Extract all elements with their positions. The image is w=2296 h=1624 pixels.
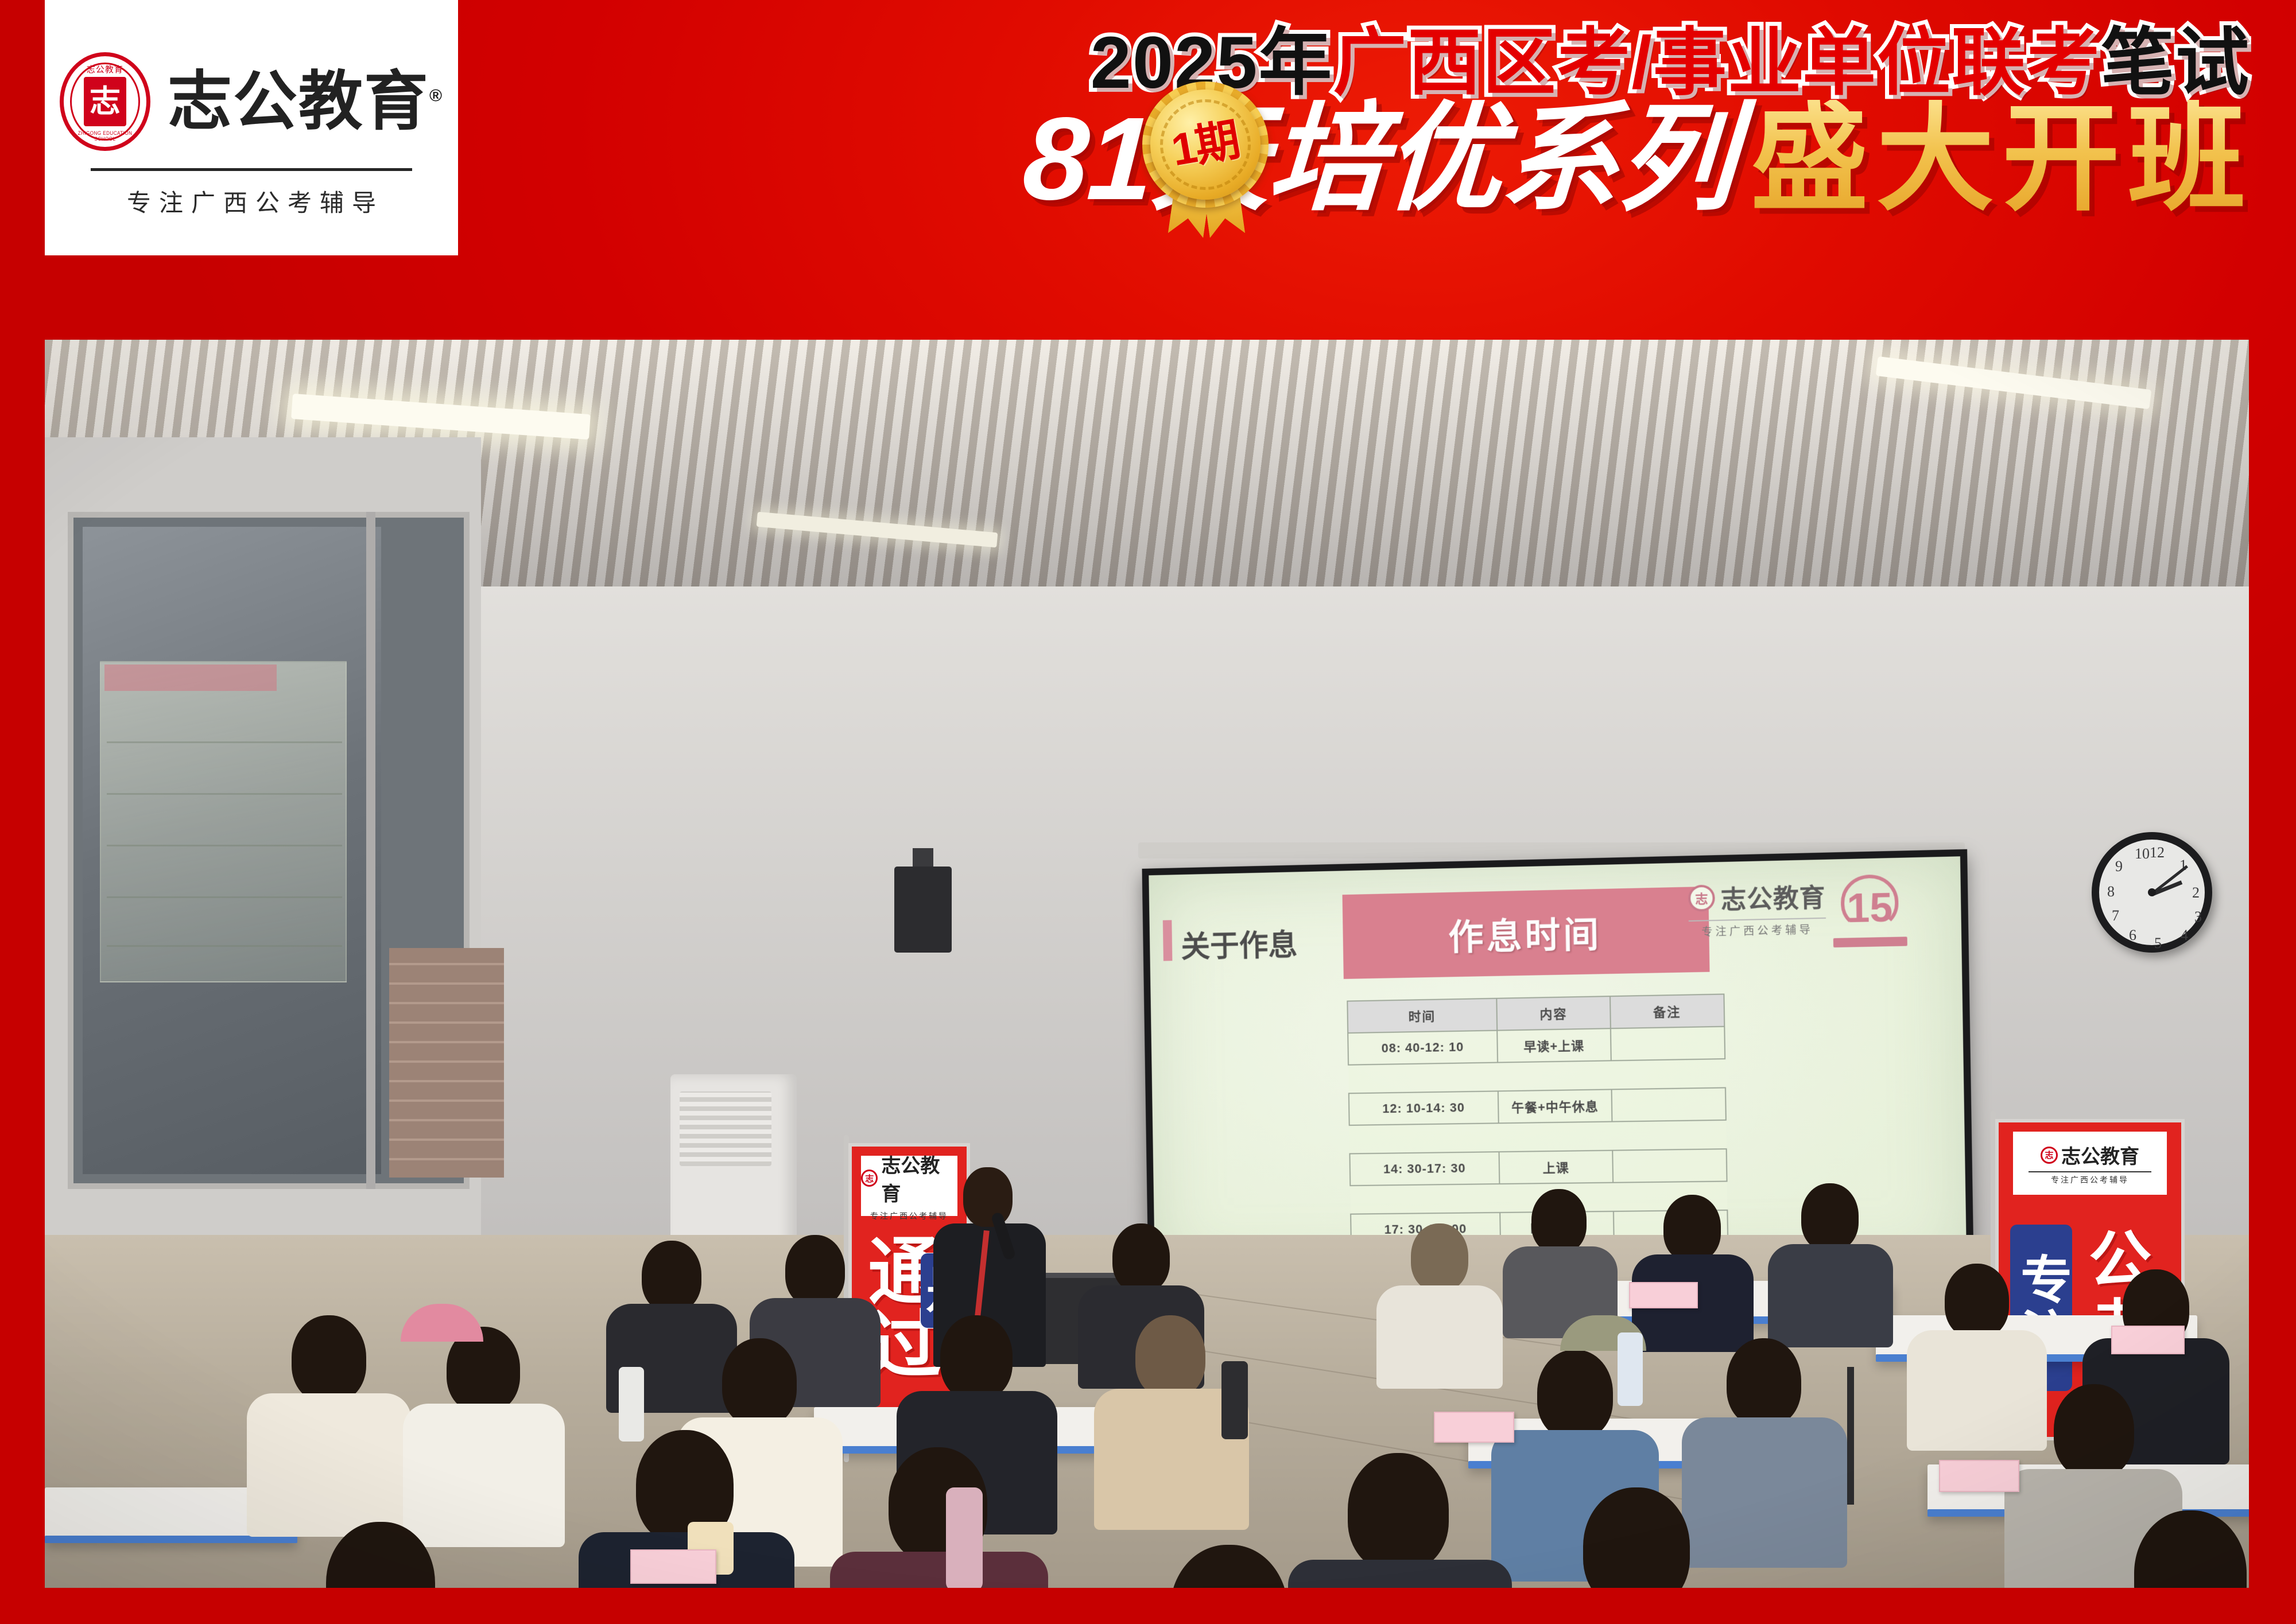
seal-top-text: 志公教育 xyxy=(64,63,146,75)
slide-title-bar: 作息时间 xyxy=(1343,887,1710,979)
slide-brand-logo-row: 志 志公教育 xyxy=(1688,877,1826,917)
window-reflection-title-bar xyxy=(104,665,277,691)
cell-remark xyxy=(1611,1087,1726,1121)
banner-left-tagline: 专注广西公考辅导 xyxy=(870,1210,948,1222)
water-bottle xyxy=(1221,1361,1248,1439)
column-header-time: 时间 xyxy=(1347,999,1497,1033)
table-row: 08: 40-12: 10 早读+上课 xyxy=(1348,1027,1725,1065)
slide-title: 作息时间 xyxy=(1448,906,1601,960)
wall-clock-icon: 12 1 2 3 4 5 6 7 8 9 10 xyxy=(2092,832,2212,953)
headline-exam-name: 广西区考/事业单位联考 xyxy=(1333,22,2101,104)
table-row: 12: 10-14: 30 午餐+中午休息 xyxy=(1349,1087,1726,1125)
cell-content: 早读+上课 xyxy=(1497,1028,1611,1062)
slide-brand-name: 志公教育 xyxy=(1720,877,1826,916)
anniversary-ribbon xyxy=(1833,937,1907,947)
headline-block: 2025年广西区考/事业单位联考笔试 81天培优系列盛大开班 xyxy=(453,8,2262,289)
window-slide-reflection xyxy=(100,661,347,982)
clock-number: 9 xyxy=(2115,858,2123,875)
clock-number: 7 xyxy=(2112,907,2119,924)
classroom-photo: 12 1 2 3 4 5 6 7 8 9 10 关于作息 作息时间 志 志公教育 xyxy=(45,340,2249,1588)
brand-name-text: 志公教育 xyxy=(168,65,429,137)
desk-name-card-blank xyxy=(1434,1412,1514,1443)
slide-section-tab xyxy=(1163,920,1173,961)
column-header-remark: 备注 xyxy=(1610,994,1725,1028)
banner-right-logo: 志 志公教育 专注广西公考辅导 xyxy=(2013,1132,2166,1195)
clock-number: 10 xyxy=(2135,845,2150,862)
headline-course-name: 81天培优系列 xyxy=(1021,100,1738,217)
clock-number: 2 xyxy=(2192,884,2200,902)
desk-name-card-blank xyxy=(2111,1326,2185,1354)
desk-name-card-blank xyxy=(630,1549,716,1584)
window-reflection-row xyxy=(107,896,342,898)
banner-right-divider xyxy=(2029,1171,2151,1172)
cell-time: 14: 30-17: 30 xyxy=(1349,1152,1499,1186)
table-row: 14: 30-17: 30 上课 xyxy=(1349,1149,1727,1186)
speaker-mount xyxy=(913,848,933,869)
clock-number: 12 xyxy=(2150,844,2165,861)
banner-right-brand: 志公教育 xyxy=(2061,1141,2139,1169)
desk-name-card-blank xyxy=(1939,1460,2019,1492)
badge-disc: 1期 xyxy=(1150,90,1261,200)
clock-number: 4 xyxy=(2181,927,2188,944)
brand-seal-icon: 志公教育 志 ZHIGONG EDUCATION SCHOOL xyxy=(60,52,150,151)
cell-content: 午餐+中午休息 xyxy=(1498,1089,1612,1123)
clock-number: 5 xyxy=(2154,935,2162,952)
cell-remark xyxy=(1612,1149,1727,1183)
seal-character: 志 xyxy=(84,77,126,126)
window-reflection-row xyxy=(107,945,342,947)
cell-time: 12: 10-14: 30 xyxy=(1349,1091,1499,1125)
seal-bottom-text: ZHIGONG EDUCATION SCHOOL xyxy=(68,130,142,142)
brand-name: 志公教育® xyxy=(168,69,443,134)
registered-mark: ® xyxy=(429,86,443,105)
water-bottle xyxy=(619,1367,644,1442)
brand-tagline: 专注广西公考辅导 xyxy=(119,184,384,219)
banner-left-logo-row: 志 志公教育 xyxy=(861,1150,957,1206)
desk-name-card-blank xyxy=(1629,1282,1698,1308)
window-reflection-row xyxy=(107,793,342,795)
anniversary-badge-icon: 15 xyxy=(1837,873,1902,943)
banner-right-logo-row: 志 志公教育 xyxy=(2041,1141,2139,1169)
window-mullion xyxy=(366,512,375,1189)
clock-minute-hand xyxy=(2151,865,2188,895)
spacer-cell xyxy=(1349,1120,1727,1154)
brick-column xyxy=(389,948,504,1178)
banner-right-tagline: 专注广西公考辅导 xyxy=(2051,1174,2129,1186)
thermos-bottle xyxy=(946,1487,983,1588)
window-reflection-row xyxy=(107,845,342,846)
column-header-content: 内容 xyxy=(1497,996,1611,1031)
air-conditioner-vent xyxy=(680,1091,771,1166)
wall-speaker xyxy=(894,867,952,953)
cell-content: 上课 xyxy=(1499,1151,1613,1184)
banner-right-seal-icon: 志 xyxy=(2041,1147,2058,1164)
slide-kicker: 关于作息 xyxy=(1181,921,1298,966)
window-reflection-row xyxy=(107,741,342,743)
brand-logo-row: 志公教育 志 ZHIGONG EDUCATION SCHOOL 志公教育® xyxy=(60,52,443,151)
teacher-head xyxy=(963,1167,1013,1227)
clock-number: 6 xyxy=(2129,927,2136,944)
banner-left-seal-icon: 志 xyxy=(861,1170,878,1187)
water-bottle xyxy=(1618,1332,1643,1406)
banner-left-brand: 志公教育 xyxy=(881,1150,957,1206)
headline-exam-type: 笔试 xyxy=(2101,22,2250,104)
headline-open-text: 盛大开班 xyxy=(1735,100,2254,217)
badge-label: 1期 xyxy=(1168,116,1242,172)
slide-seal-icon: 志 xyxy=(1688,885,1715,912)
table-spacer-row xyxy=(1349,1120,1727,1154)
banner-left-logo: 志 志公教育 专注广西公考辅导 xyxy=(861,1156,957,1217)
brand-logo-card: 志公教育 志 ZHIGONG EDUCATION SCHOOL 志公教育® 专注… xyxy=(45,0,458,255)
clock-center-pin xyxy=(2148,888,2156,896)
desk-leg xyxy=(1847,1367,1854,1505)
cell-remark xyxy=(1610,1027,1725,1061)
clock-number: 3 xyxy=(2194,908,2202,926)
slide-brand-logo: 志 志公教育 专注广西公考辅导 xyxy=(1688,877,1826,939)
slide-brand-tagline: 专注广西公考辅导 xyxy=(1689,921,1826,939)
logo-divider xyxy=(91,168,412,171)
cell-time: 08: 40-12: 10 xyxy=(1348,1031,1498,1065)
clock-number: 8 xyxy=(2107,883,2115,900)
phase-badge-icon: 1期 xyxy=(1142,86,1269,232)
